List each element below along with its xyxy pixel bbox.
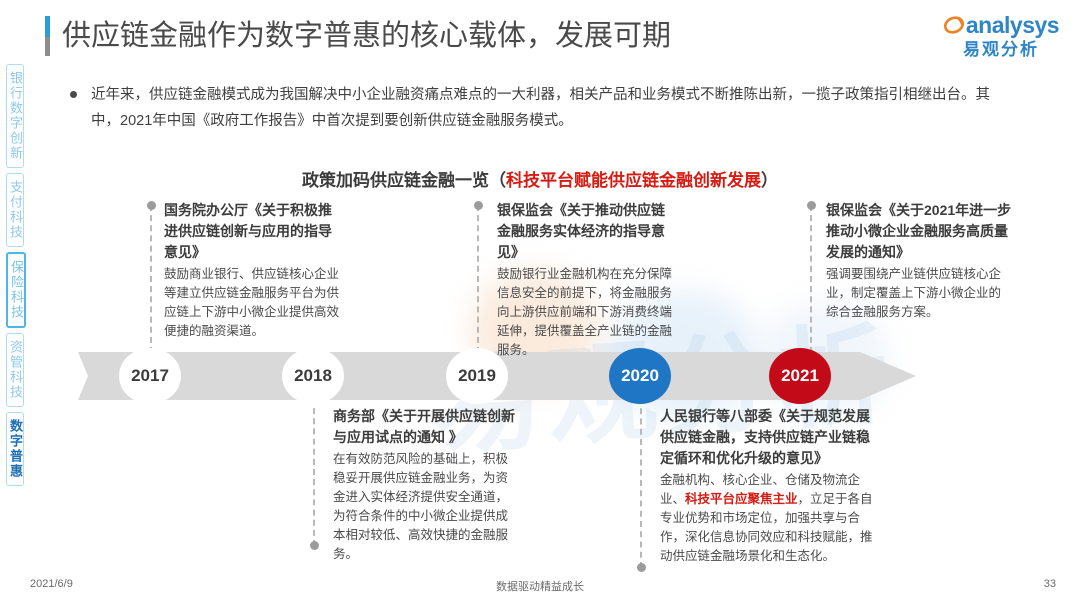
policy-card-2019: 银保监会《关于推动供应链金融服务实体经济的指导意见》 鼓励银行业金融机构在充分保… (497, 200, 677, 360)
timeline-year-2017[interactable]: 2017 (119, 348, 181, 404)
connector-2018 (313, 398, 316, 546)
page-title: 供应链金融作为数字普惠的核心载体，发展可期 (62, 22, 671, 51)
policy-card-2021: 银保监会《关于2021年进一步推动小微企业金融服务高质量发展的通知》 强调要围绕… (826, 200, 1012, 322)
policy-card-title: 国务院办公厅《关于积极推进供应链创新与应用的指导意见》 (164, 200, 344, 263)
timeline-year-label: 2017 (131, 366, 169, 386)
sidebar-item-bank-digital[interactable]: 银行数字创新 (6, 64, 24, 168)
sidebar-tabs: 银行数字创新 支付科技 保险科技 资管科技 数字普惠 (6, 64, 40, 491)
policy-card-title: 商务部《关于开展供应链创新与应用试点的通知 》 (333, 406, 517, 448)
timeline-left-notch-icon (78, 352, 88, 400)
timeline-year-label: 2021 (781, 366, 819, 386)
sidebar-item-label: 保险科技 (8, 260, 24, 320)
connector-dot-icon (474, 201, 483, 210)
timeline-year-label: 2020 (621, 366, 659, 386)
connector-2020 (640, 398, 643, 568)
footer-slogan: 数据驱动精益成长 (0, 578, 1080, 594)
sidebar-item-label: 数字普惠 (7, 419, 23, 479)
chart-title-main: 政策加码供应链金融一览（ (302, 171, 506, 190)
timeline-arrow-tip-icon (860, 352, 916, 400)
policy-card-body: 金融机构、核心企业、仓储及物流企业、科技平台应聚焦主业，立足于各自专业优势和市场… (660, 471, 873, 566)
connector-2021 (810, 205, 813, 353)
policy-card-body: 在有效防范风险的基础上，积极稳妥开展供应链金融业务，为资金进入实体经济提供安全通… (333, 450, 517, 564)
footer-page-number: 33 (1044, 578, 1056, 590)
connector-dot-icon (807, 201, 816, 210)
chart-title-highlight: 科技平台赋能供应链金融创新发展 (506, 171, 761, 190)
policy-card-2020: 人民银行等八部委《关于规范发展供应链金融，支持供应链产业链稳定循环和优化升级的意… (660, 406, 873, 566)
sidebar-item-insurance-tech[interactable]: 保险科技 (6, 252, 26, 328)
sidebar-item-asset-tech[interactable]: 资管科技 (6, 333, 24, 407)
sidebar-item-label: 资管科技 (7, 340, 23, 400)
intro-bullet-text: 近年来，供应链金融模式成为我国解决中小企业融资痛点难点的一大利器，相关产品和业务… (91, 82, 1000, 134)
analysys-mark-icon (943, 14, 965, 36)
chart-title-tail: ） (761, 171, 778, 190)
bullet-dot-icon (70, 91, 77, 98)
chart-title: 政策加码供应链金融一览（科技平台赋能供应链金融创新发展） (0, 166, 1080, 191)
policy-card-body-highlight: 科技平台应聚焦主业 (685, 492, 798, 506)
policy-card-title: 银保监会《关于推动供应链金融服务实体经济的指导意见》 (497, 200, 677, 263)
title-accent-bar (45, 16, 50, 56)
policy-card-body: 鼓励银行业金融机构在充分保障信息安全的前提下，将金融服务向上游供应前端和下游消费… (497, 265, 677, 360)
logo-wordmark: analysys (966, 14, 1059, 37)
policy-card-title: 人民银行等八部委《关于规范发展供应链金融，支持供应链产业链稳定循环和优化升级的意… (660, 406, 873, 469)
slide-canvas: 易观分析 供应链金融作为数字普惠的核心载体，发展可期 analysys 易观分析… (0, 0, 1080, 608)
timeline-year-label: 2018 (294, 366, 332, 386)
slide-footer: 2021/6/9 数据驱动精益成长 33 (0, 578, 1080, 594)
connector-dot-icon (147, 201, 156, 210)
connector-dot-icon (637, 563, 646, 572)
connector-2019 (477, 205, 480, 353)
logo-chinese-name: 易观分析 (940, 41, 1062, 58)
intro-bullet: 近年来，供应链金融模式成为我国解决中小企业融资痛点难点的一大利器，相关产品和业务… (70, 82, 1000, 134)
policy-card-2017: 国务院办公厅《关于积极推进供应链创新与应用的指导意见》 鼓励商业银行、供应链核心… (164, 200, 344, 341)
timeline-year-2021[interactable]: 2021 (769, 348, 831, 404)
policy-card-2018: 商务部《关于开展供应链创新与应用试点的通知 》 在有效防范风险的基础上，积极稳妥… (333, 406, 517, 564)
sidebar-item-label: 银行数字创新 (7, 71, 23, 161)
sidebar-item-digital-inclusive[interactable]: 数字普惠 (6, 412, 24, 486)
policy-card-title: 银保监会《关于2021年进一步推动小微企业金融服务高质量发展的通知》 (826, 200, 1012, 263)
connector-2017 (150, 205, 153, 353)
connector-dot-icon (310, 541, 319, 550)
policy-card-body: 强调要围绕产业链供应链核心企业，制定覆盖上下游小微企业的综合金融服务方案。 (826, 265, 1012, 322)
policy-card-body: 鼓励商业银行、供应链核心企业等建立供应链金融服务平台为供应链上下游中小微企业提供… (164, 265, 344, 341)
timeline-year-label: 2019 (458, 366, 496, 386)
brand-logo: analysys 易观分析 (940, 10, 1062, 58)
page-header: 供应链金融作为数字普惠的核心载体，发展可期 (45, 16, 671, 56)
timeline-year-2018[interactable]: 2018 (282, 348, 344, 404)
